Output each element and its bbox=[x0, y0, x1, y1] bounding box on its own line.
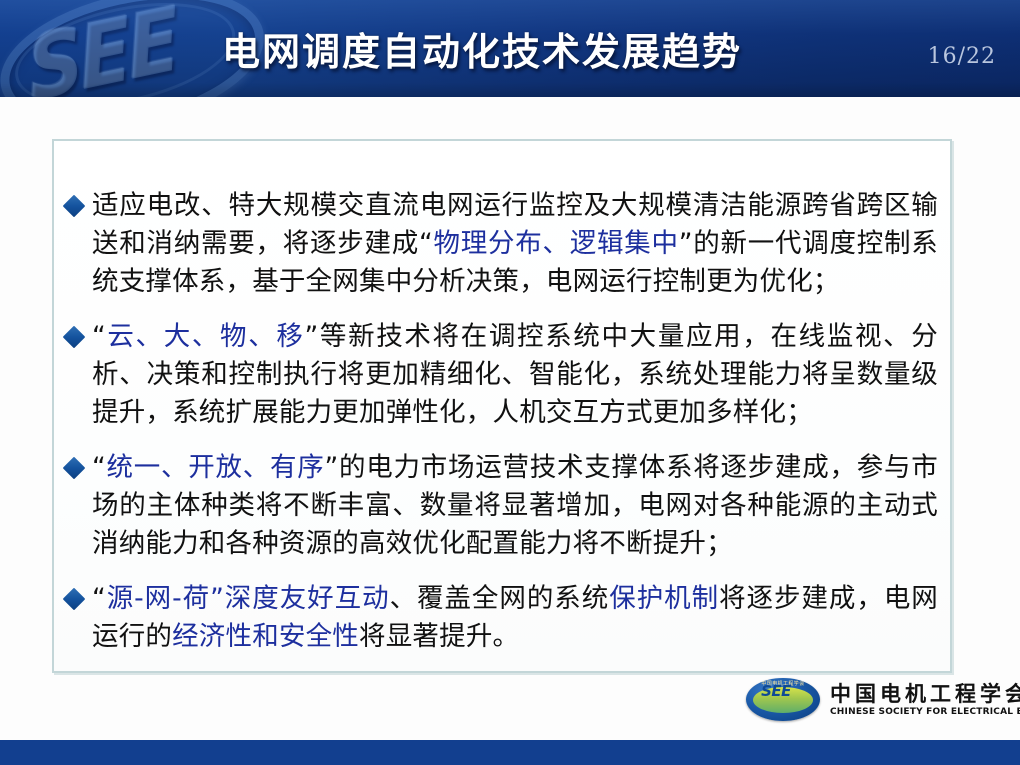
highlighted-phrase: 源-网-荷”深度友好互动 bbox=[106, 583, 390, 614]
highlighted-phrase: 经济性和安全性 bbox=[172, 621, 359, 652]
bullet-text: 适应电改、特大规模交直流电网运行监控及大规模清洁能源跨省跨区输送和消纳需要，将逐… bbox=[92, 187, 938, 301]
page-number: 16/22 bbox=[928, 44, 996, 69]
bullet-text: “云、大、物、移”等新技术将在调控系统中大量应用，在线监视、分析、决策和控制执行… bbox=[92, 318, 938, 432]
highlighted-phrase: 云、大、物、移 bbox=[106, 321, 305, 352]
body-text-segment: “ bbox=[92, 321, 106, 352]
bullet-text: “源-网-荷”深度友好互动、覆盖全网的系统保护机制将逐步建成，电网运行的经济性和… bbox=[92, 580, 938, 656]
organization-logo: 中国电机工程学会 SEE 中国电机工程学会 CHINESE SOCIETY FO… bbox=[746, 678, 1020, 721]
bullet-item: “源-网-荷”深度友好互动、覆盖全网的系统保护机制将逐步建成，电网运行的经济性和… bbox=[66, 580, 938, 656]
body-text-segment: “ bbox=[92, 583, 106, 614]
slide-header: SEE 电网调度自动化技术发展趋势 16/22 bbox=[0, 0, 1020, 97]
body-text-segment: 、覆盖全网的系统 bbox=[390, 583, 610, 614]
badge-see-text: SEE bbox=[746, 682, 806, 700]
diamond-bullet-icon bbox=[63, 195, 86, 218]
logo-name-cn: 中国电机工程学会 bbox=[830, 682, 1020, 706]
bullet-list: 适应电改、特大规模交直流电网运行监控及大规模清洁能源跨省跨区输送和消纳需要，将逐… bbox=[66, 187, 938, 656]
highlighted-phrase: 物理分布、逻辑集中 bbox=[433, 228, 679, 259]
highlighted-phrase: 统一、开放、有序 bbox=[106, 452, 325, 483]
see-badge-icon: 中国电机工程学会 SEE bbox=[746, 678, 820, 721]
slide: SEE 电网调度自动化技术发展趋势 16/22 适应电改、特大规模交直流电网运行… bbox=[0, 0, 1020, 765]
bullet-item: “统一、开放、有序”的电力市场运营技术支撑体系将逐步建成，参与市场的主体种类将不… bbox=[66, 449, 938, 563]
body-text-segment: “ bbox=[92, 452, 106, 483]
highlighted-phrase: 保护机制 bbox=[609, 583, 719, 614]
diamond-bullet-icon bbox=[63, 326, 86, 349]
watermark-see-text: SEE bbox=[23, 0, 181, 97]
content-panel: 适应电改、特大规模交直流电网运行监控及大规模清洁能源跨省跨区输送和消纳需要，将逐… bbox=[52, 139, 952, 673]
page-title: 电网调度自动化技术发展趋势 bbox=[222, 21, 742, 76]
footer-bar bbox=[0, 740, 1020, 765]
body-text-segment: 将显著提升。 bbox=[359, 621, 519, 652]
diamond-bullet-icon bbox=[63, 588, 86, 611]
logo-text-block: 中国电机工程学会 CHINESE SOCIETY FOR ELECTRICAL … bbox=[830, 682, 1020, 718]
bullet-text: “统一、开放、有序”的电力市场运营技术支撑体系将逐步建成，参与市场的主体种类将不… bbox=[92, 449, 938, 563]
diamond-bullet-icon bbox=[63, 457, 86, 480]
logo-name-en: CHINESE SOCIETY FOR ELECTRICAL ENGINEERI… bbox=[830, 706, 1020, 718]
bullet-item: “云、大、物、移”等新技术将在调控系统中大量应用，在线监视、分析、决策和控制执行… bbox=[66, 318, 938, 432]
bullet-item: 适应电改、特大规模交直流电网运行监控及大规模清洁能源跨省跨区输送和消纳需要，将逐… bbox=[66, 187, 938, 301]
